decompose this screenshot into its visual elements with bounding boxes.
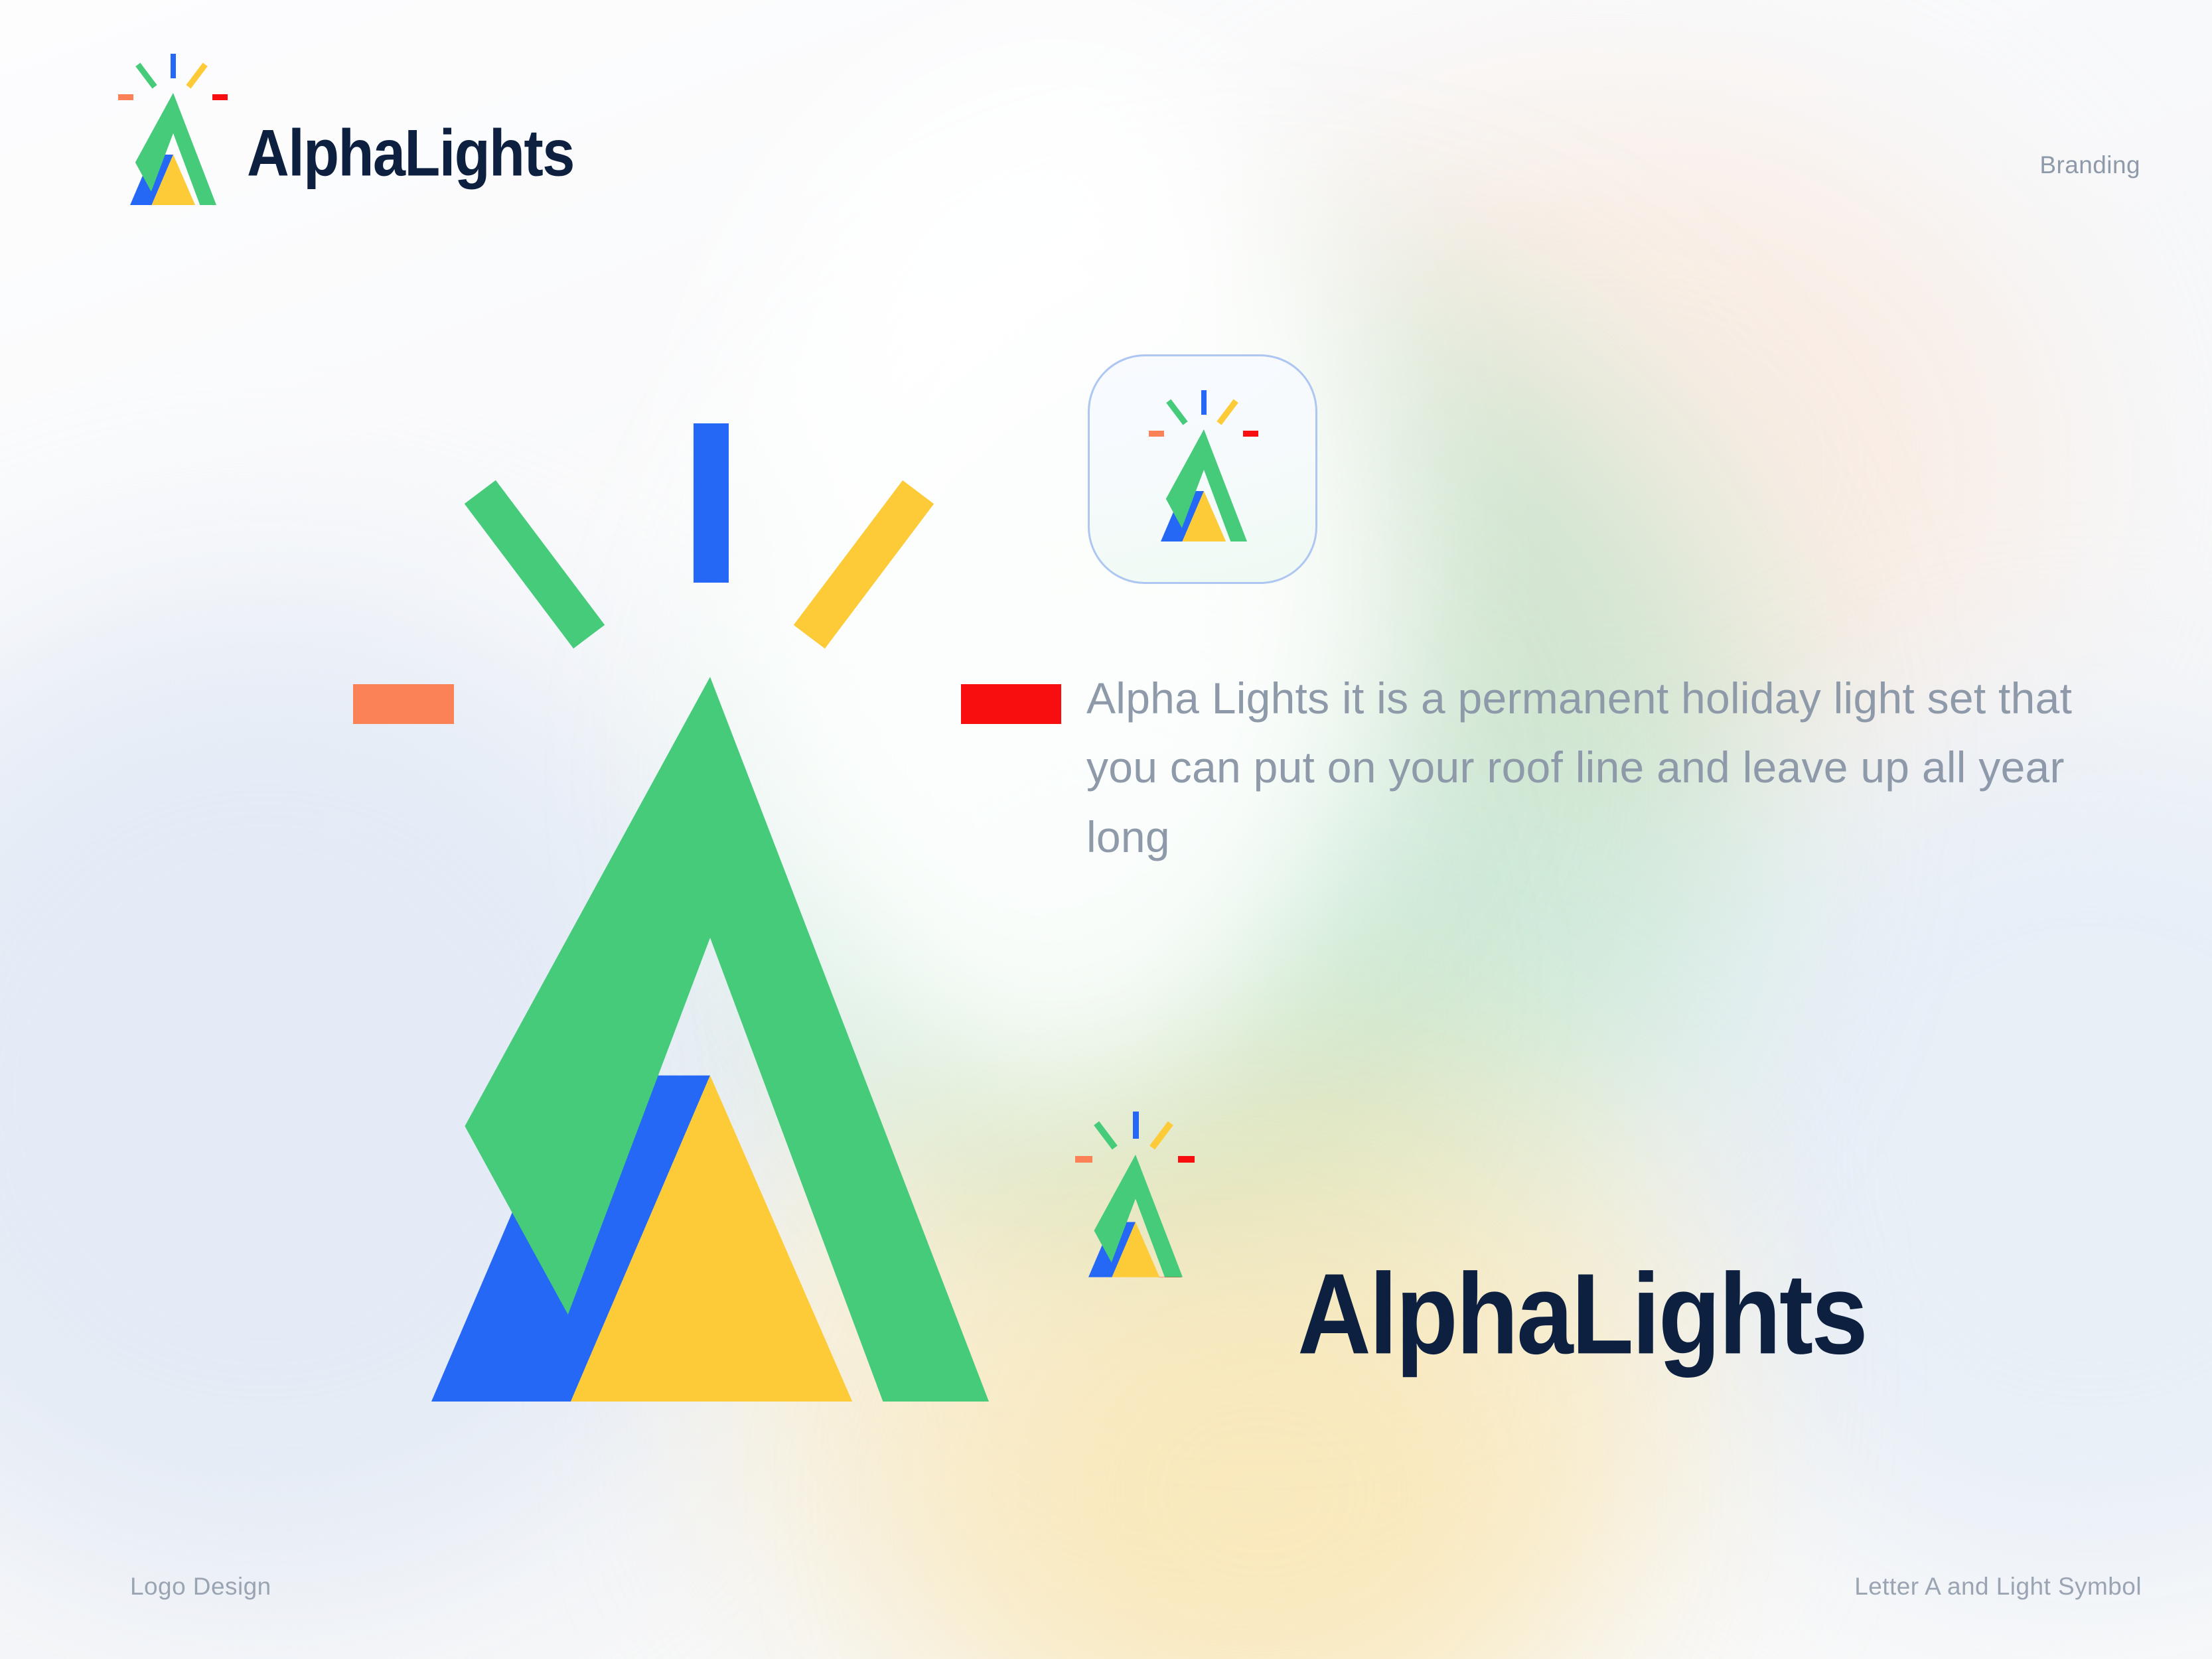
brand-description-text: Alpha Lights it is a permanent holiday l… xyxy=(1086,664,2095,871)
light-ray-orange-icon xyxy=(1075,1156,1092,1163)
light-ray-blue-icon xyxy=(694,423,729,583)
footer-left-label: Logo Design xyxy=(130,1573,271,1601)
light-ray-red-icon xyxy=(961,684,1061,724)
lockup-brand-wordmark: AlphaLights xyxy=(1297,1257,1866,1372)
light-ray-orange-icon xyxy=(353,684,453,724)
hero-logo-icon xyxy=(431,677,989,1402)
light-ray-red-icon xyxy=(1243,431,1258,437)
lockup-logo-icon xyxy=(1088,1155,1183,1277)
app-icon-logo xyxy=(1161,429,1247,541)
light-ray-yellow-icon xyxy=(1217,399,1238,425)
light-ray-yellow-icon xyxy=(793,480,933,648)
light-ray-red-icon xyxy=(212,94,228,100)
light-ray-green-icon xyxy=(465,480,605,648)
light-ray-orange-icon xyxy=(118,94,133,100)
header-logo-icon xyxy=(130,93,216,205)
light-ray-blue-icon xyxy=(1201,390,1207,415)
light-ray-green-icon xyxy=(1094,1121,1118,1150)
app-icon-card[interactable] xyxy=(1088,354,1317,584)
header-brand-wordmark: AlphaLights xyxy=(247,120,574,186)
light-ray-yellow-icon xyxy=(1149,1121,1173,1150)
light-ray-orange-icon xyxy=(1149,431,1164,437)
light-ray-red-icon xyxy=(1178,1156,1195,1163)
light-ray-green-icon xyxy=(135,62,157,88)
light-ray-yellow-icon xyxy=(186,62,208,88)
branding-presentation-canvas: AlphaLights Branding Alpha Lights it is … xyxy=(0,0,2212,1659)
light-ray-blue-icon xyxy=(1133,1112,1139,1139)
footer-right-label: Letter A and Light Symbol xyxy=(1854,1573,2142,1601)
light-ray-blue-icon xyxy=(171,54,176,78)
light-ray-green-icon xyxy=(1166,399,1188,425)
category-label: Branding xyxy=(2039,151,2140,179)
